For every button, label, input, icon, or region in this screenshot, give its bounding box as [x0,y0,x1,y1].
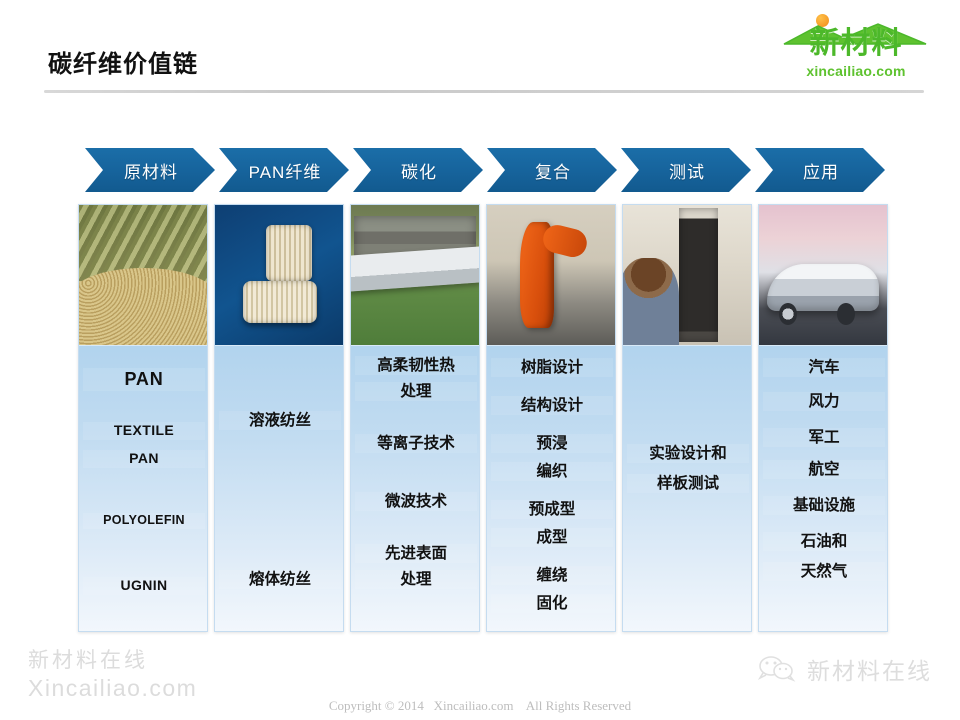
grain-biomass-photo-art [79,205,207,345]
flow-stage-label: 测试 [669,158,705,183]
flow-stage-label: 应用 [803,158,839,183]
flow-stage-item-list: 实验设计和样板测试 [623,346,751,632]
aerial-factory-photo [351,205,479,346]
flow-stage-item-list: 高柔韧性热处理等离子技术微波技术先进表面处理 [351,346,479,632]
flow-stage-item: 熔体纺丝 [219,570,341,589]
fiber-spools-photo-art [215,205,343,345]
flow-stage-item: 样板测试 [627,474,749,493]
flow-stage-panel-2: 溶液纺丝熔体纺丝 [214,204,344,632]
copyright-text: Copyright © 2014 Xincailiao.com All Righ… [0,698,960,714]
page-header: 碳纤维价值链 新材料 xincailiao.com [0,0,960,100]
flow-stage-label: 碳化 [401,158,437,183]
flow-stage-arrow-1[interactable]: 原材料 [85,148,215,192]
flow-stage-panel-5: 实验设计和样板测试 [622,204,752,632]
logo-chinese-text: 新材料 [784,28,928,60]
flow-stage-item: 先进表面 [355,544,477,563]
header-divider [44,90,924,93]
flow-stage-item: 等离子技术 [355,434,477,453]
flow-stage-item: 天然气 [763,562,885,581]
brand-logo: 新材料 xincailiao.com [774,14,934,84]
flow-stage-item: 基础设施 [763,496,885,515]
page-title: 碳纤维价值链 [48,44,198,79]
flow-stage-arrow-3[interactable]: 碳化 [353,148,483,192]
flow-stage-item-list: 树脂设计结构设计预浸编织预成型成型缠绕固化 [487,346,615,632]
flow-stage-item: 结构设计 [491,396,613,415]
flow-stage-arrow-5[interactable]: 测试 [621,148,751,192]
silver-car-photo-art [759,205,887,345]
flow-stage-item-list: 汽车风力军工航空基础设施石油和天然气 [759,346,887,632]
aerial-factory-photo-art [351,205,479,345]
flow-stage-label: PAN纤维 [249,158,322,183]
fiber-spools-photo [215,205,343,346]
flow-stage-panel-4: 树脂设计结构设计预浸编织预成型成型缠绕固化 [486,204,616,632]
flow-stage-item: 石油和 [763,532,885,551]
silver-car-photo [759,205,887,346]
flow-stage-item: 处理 [355,382,477,401]
material-testing-photo-art [623,205,751,345]
flow-stage-item: 汽车 [763,358,885,377]
flow-stage-panel-6: 汽车风力军工航空基础设施石油和天然气 [758,204,888,632]
flow-stage-arrow-2[interactable]: PAN纤维 [219,148,349,192]
material-testing-photo [623,205,751,346]
flow-stage-item: PAN [83,368,205,391]
grain-biomass-photo [79,205,207,346]
flow-stage-panel-3: 高柔韧性热处理等离子技术微波技术先进表面处理 [350,204,480,632]
watermark-right-text: 新材料在线 [807,652,932,686]
watermark-left: 新材料在线 Xincailiao.com [28,648,197,702]
flow-stage-item: 溶液纺丝 [219,411,341,430]
flow-stage-item: 微波技术 [355,492,477,511]
flow-stage-item: 预成型 [491,500,613,519]
wechat-icon [757,655,797,683]
flow-stage-item: 预浸 [491,434,613,453]
flow-stage-item: 高柔韧性热 [355,356,477,375]
flow-stage-item: 固化 [491,594,613,613]
flow-stage-arrow-6[interactable]: 应用 [755,148,885,192]
flow-stage-item: POLYOLEFIN [83,513,205,529]
watermark-left-chinese: 新材料在线 [28,648,197,674]
logo-domain-text: xincailiao.com [784,63,928,79]
flow-stage-item-list: PANTEXTILEPANPOLYOLEFINUGNIN [79,346,207,632]
flow-stage-item: 风力 [763,392,885,411]
flow-stage-item: 编织 [491,462,613,481]
flow-stage-item: 树脂设计 [491,358,613,377]
flow-stage-panel-1: PANTEXTILEPANPOLYOLEFINUGNIN [78,204,208,632]
watermark-right: 新材料在线 [757,652,932,686]
flow-stage-arrow-4[interactable]: 复合 [487,148,617,192]
flow-stage-item: 缠绕 [491,566,613,585]
flow-stage-item: UGNIN [83,577,205,595]
flow-stage-item: TEXTILE [83,422,205,440]
flow-stage-item: 军工 [763,428,885,447]
robot-arm-photo-art [487,205,615,345]
flow-stage-item-list: 溶液纺丝熔体纺丝 [215,346,343,632]
flow-stage-item: 实验设计和 [627,444,749,463]
flow-stage-item: 成型 [491,528,613,547]
flow-stage-label: 原材料 [124,158,178,183]
flow-stage-item: 处理 [355,570,477,589]
flow-stage-item: 航空 [763,460,885,479]
flow-stage-item: PAN [83,450,205,468]
flow-stage-label: 复合 [535,158,571,183]
robot-arm-photo [487,205,615,346]
